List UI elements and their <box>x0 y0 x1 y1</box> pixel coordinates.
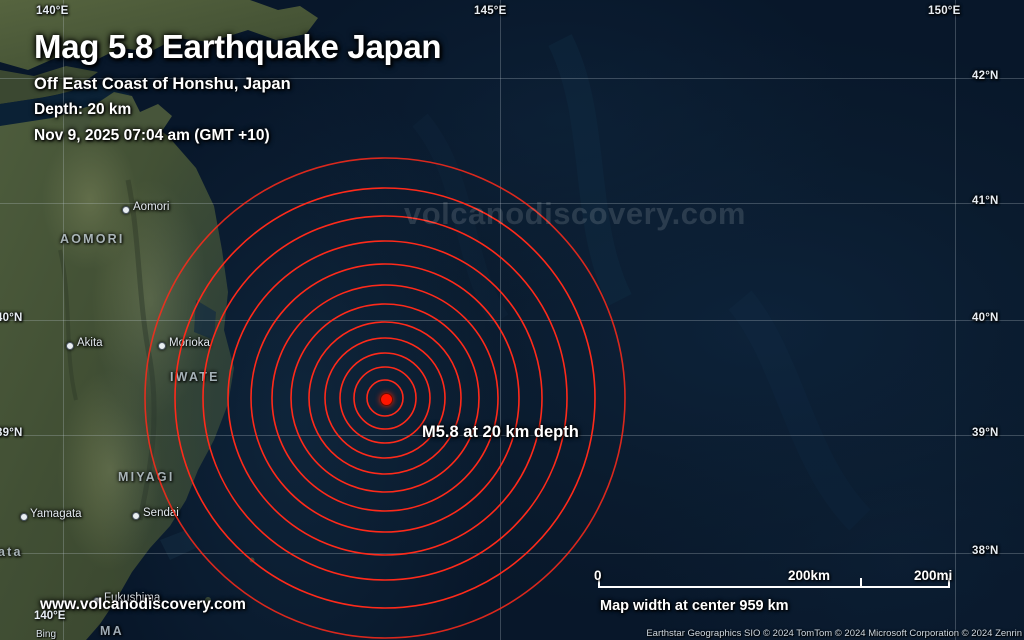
prefecture-label-ata: ata <box>0 545 23 559</box>
graticule-label-corner: 140°E <box>34 610 65 622</box>
info-panel: Mag 5.8 Earthquake Japan Off East Coast … <box>34 28 441 145</box>
city-label-akita: Akita <box>77 337 103 349</box>
prefecture-label-ma: MA <box>100 624 124 638</box>
earthquake-map[interactable]: 140°E 145°E 150°E 42°N 41°N 40°N 39°N 38… <box>0 0 1024 640</box>
graticule-label-lat-38: 38°N <box>972 545 999 557</box>
graticule-label-lat-40-left: 40°N <box>0 312 23 324</box>
scale-line <box>598 586 950 588</box>
region-subtitle: Off East Coast of Honshu, Japan <box>34 75 441 94</box>
scale-caption: Map width at center 959 km <box>600 598 789 614</box>
scale-bar: 0 200km 200mi Map width at center 959 km <box>592 572 956 618</box>
graticule-label-lat-39-left: 39°N <box>0 427 23 439</box>
graticule-label-lat-41: 41°N <box>972 195 999 207</box>
scale-label-mi: 200mi <box>914 568 952 583</box>
graticule-label-lon-140: 140°E <box>36 5 68 17</box>
city-label-aomori: Aomori <box>133 201 169 213</box>
city-dot-sendai <box>132 512 140 520</box>
city-label-yamagata: Yamagata <box>30 508 82 520</box>
quake-magnitude-label: M5.8 at 20 km depth <box>422 423 579 442</box>
prefecture-label-aomori: AOMORI <box>60 232 125 246</box>
scale-label-zero: 0 <box>594 568 602 583</box>
page-title: Mag 5.8 Earthquake Japan <box>34 28 441 66</box>
graticule-label-lon-150: 150°E <box>928 5 960 17</box>
epicenter-marker[interactable] <box>380 393 393 406</box>
graticule-label-lat-39: 39°N <box>972 427 999 439</box>
graticule-label-lat-40: 40°N <box>972 312 999 324</box>
city-dot-aomori <box>122 206 130 214</box>
city-dot-yamagata <box>20 513 28 521</box>
city-dot-akita <box>66 342 74 350</box>
map-attribution: Earthstar Geographics SIO © 2024 TomTom … <box>646 628 1022 639</box>
scale-tick-200km <box>860 578 862 587</box>
graticule-label-lat-42: 42°N <box>972 70 999 82</box>
prefecture-label-miyagi: MIYAGI <box>118 470 175 484</box>
prefecture-label-iwate: IWATE <box>170 370 220 384</box>
city-label-morioka: Morioka <box>169 337 210 349</box>
datetime-text: Nov 9, 2025 07:04 am (GMT +10) <box>34 127 441 145</box>
depth-text: Depth: 20 km <box>34 101 441 119</box>
city-label-sendai: Sendai <box>143 507 179 519</box>
scale-label-km: 200km <box>788 568 830 583</box>
bing-logo[interactable]: Bing <box>36 629 56 640</box>
graticule-label-lon-145: 145°E <box>474 5 506 17</box>
site-url[interactable]: www.volcanodiscovery.com <box>40 596 246 614</box>
city-dot-morioka <box>158 342 166 350</box>
